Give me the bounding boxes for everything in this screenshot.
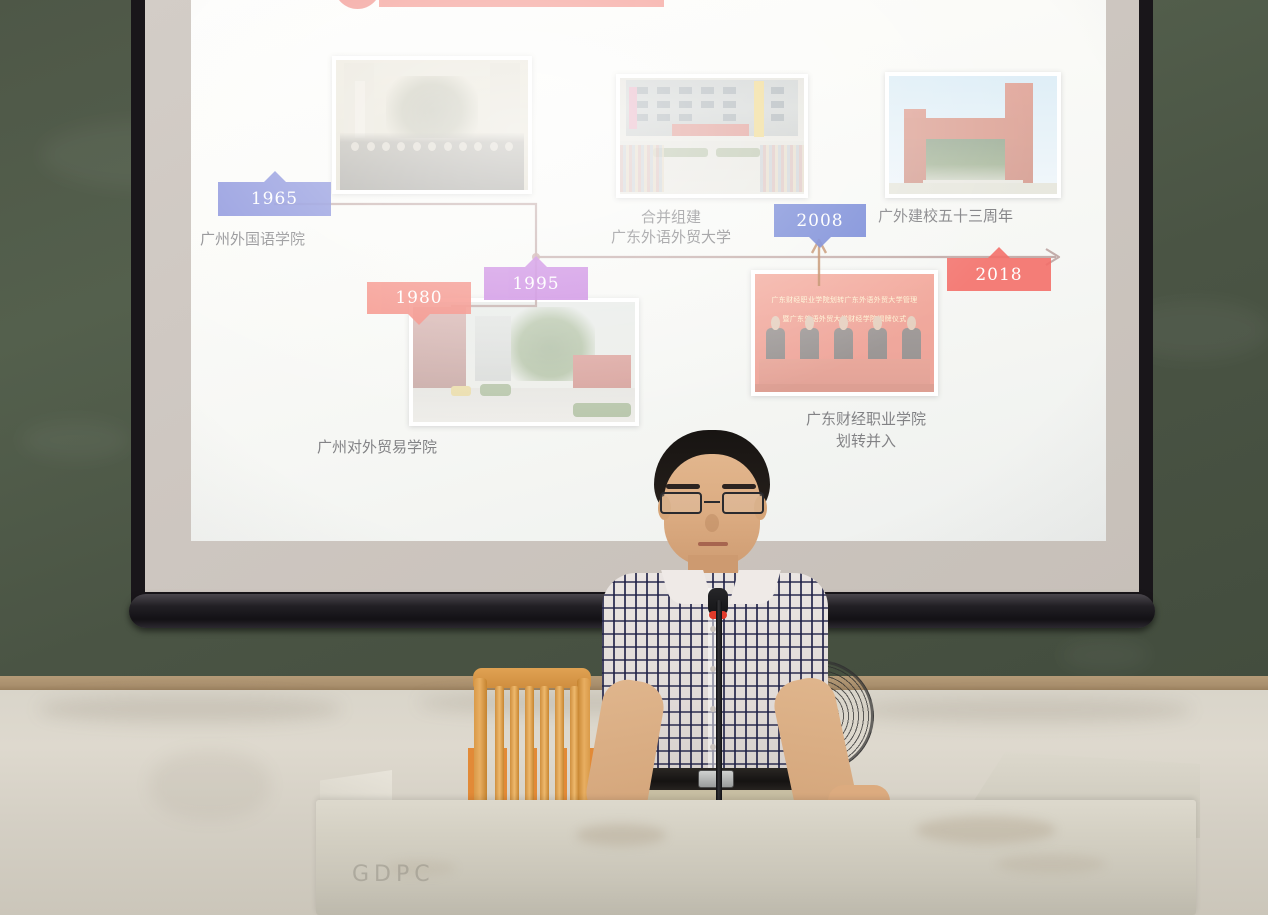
chair-crest-rail: [473, 668, 591, 688]
timeline-year-2018: 2018: [975, 265, 1022, 285]
lens-right: [722, 492, 764, 514]
glasses-bridge: [704, 501, 720, 503]
caption-2018: 广外建校五十三周年: [878, 207, 1013, 226]
campus-entrance-photo: [409, 298, 639, 426]
timeline-year-2008: 2008: [796, 211, 843, 231]
podium-brand-label: GDPC: [352, 862, 435, 887]
presenter: [588, 430, 858, 850]
timeline-tag-1995: 1995: [484, 267, 588, 300]
nose: [705, 514, 719, 532]
timeline-tag-2018: 2018: [947, 258, 1051, 291]
eyebrow-right: [722, 484, 756, 489]
timeline-year-1995: 1995: [512, 274, 559, 294]
caption-2008-line1: 广东财经职业学院: [756, 410, 976, 429]
mouth: [698, 542, 728, 546]
conference-photo: 广东财经职业学院划转广东外语外贸大学管理 暨广东外语外贸大学财经学院揭牌仪式: [751, 270, 938, 396]
slide-title: 广外发展概况——历史: [379, 0, 615, 3]
slide-title-bar: 广外发展概况——历史: [379, 0, 664, 7]
caption-1995-line2: 广东外语外贸大学: [566, 228, 776, 247]
caption-1995-line1: 合并组建: [566, 208, 776, 227]
timeline-tag-2008: 2008: [774, 204, 866, 237]
lens-left: [660, 492, 702, 514]
ceremony-photo: [616, 74, 808, 198]
lecture-scene: 1 广外发展概况——历史: [0, 0, 1268, 915]
campus-gate-photo: [885, 72, 1061, 198]
timeline-tag-1965: 1965: [218, 182, 331, 216]
eyebrow-left: [666, 484, 700, 489]
timeline-year-1980: 1980: [395, 288, 442, 308]
podium: [316, 800, 1196, 915]
slide-number-badge: 1: [334, 0, 381, 9]
eyeglasses: [659, 492, 765, 514]
timeline-tag-1980: 1980: [367, 282, 471, 314]
caption-1980: 广州对外贸易学院: [317, 438, 437, 457]
caption-1965: 广州外国语学院: [200, 230, 305, 249]
conference-banner-line1: 广东财经职业学院划转广东外语外贸大学管理: [762, 295, 927, 305]
timeline-year-1965: 1965: [251, 189, 298, 209]
historic-group-photo: [332, 56, 532, 194]
